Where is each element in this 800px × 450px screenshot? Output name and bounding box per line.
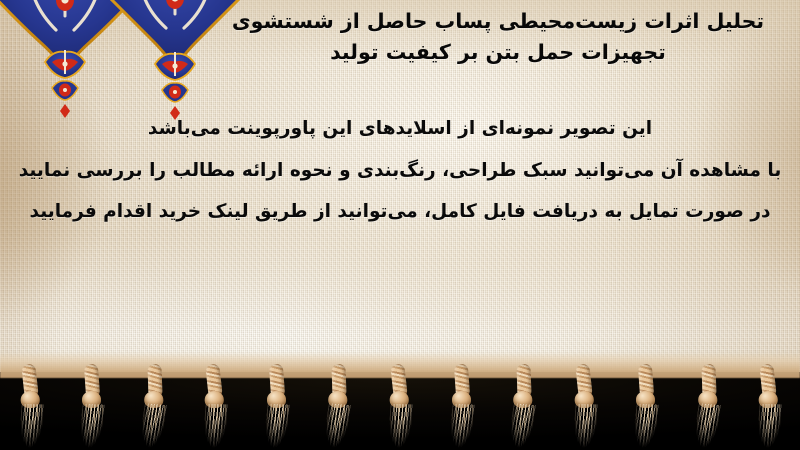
fringe-threads <box>631 404 660 450</box>
fringe-threads <box>447 404 476 450</box>
fringe-tassel <box>79 364 105 450</box>
fringe-threads <box>202 404 229 450</box>
fringe-tassel <box>693 364 722 450</box>
fringe-tassel <box>324 364 353 450</box>
fringe-threads <box>571 404 598 450</box>
slide-body: این تصویر نمونه‌ای از اسلایدهای این پاور… <box>0 108 800 233</box>
slide-title-line-1: تحلیل اثرات زیست‌محیطی پساب حاصل از شستش… <box>218 6 778 37</box>
fringe-threads <box>387 404 414 450</box>
fringe-tassel <box>449 364 475 450</box>
fringe-threads <box>137 403 167 450</box>
fringe-threads <box>18 404 45 450</box>
slide-title-line-2: تجهیزات حمل بتن بر کیفیت تولید <box>218 37 778 68</box>
presentation-slide: تحلیل اثرات زیست‌محیطی پساب حاصل از شستش… <box>0 0 800 450</box>
fringe-tassel <box>201 364 230 450</box>
fringe-threads <box>262 404 291 450</box>
fringe-tassel <box>633 364 659 450</box>
slide-title: تحلیل اثرات زیست‌محیطی پساب حاصل از شستش… <box>218 6 778 68</box>
fringe-threads <box>78 404 107 450</box>
carpet-fringe <box>0 352 800 450</box>
slide-body-line-2: با مشاهده آن می‌توانید سبک طراحی، رنگ‌بن… <box>0 150 800 192</box>
fringe-threads <box>756 404 783 450</box>
fringe-tassel <box>570 364 599 450</box>
slide-body-line-3: در صورت تمایل به دریافت فایل کامل، می‌تو… <box>0 191 800 233</box>
fringe-tassel <box>139 364 168 450</box>
fringe-threads <box>691 403 721 450</box>
fringe-tassel <box>755 364 784 450</box>
slide-body-line-1: این تصویر نمونه‌ای از اسلایدهای این پاور… <box>0 108 800 150</box>
fringe-threads <box>507 403 537 450</box>
fringe-tassel <box>264 364 290 450</box>
fringe-tassel <box>16 364 45 450</box>
fringe-tassel <box>508 364 537 450</box>
fringe-threads <box>322 403 352 450</box>
fringe-tassel <box>385 364 414 450</box>
